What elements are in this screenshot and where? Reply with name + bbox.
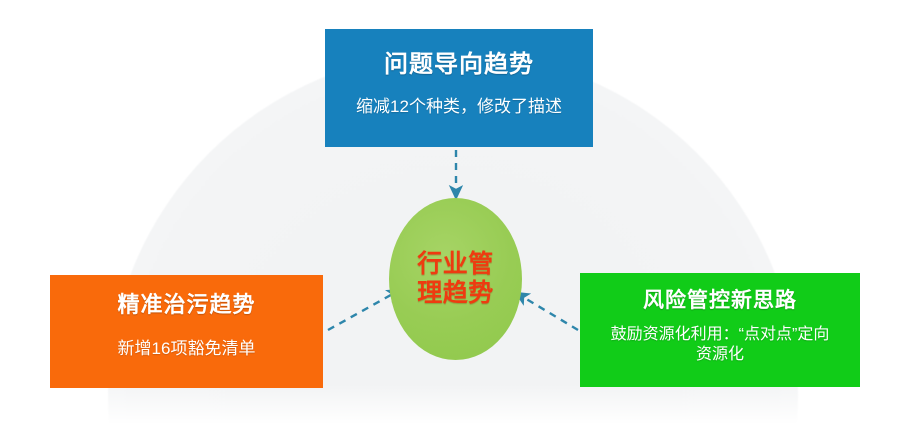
hub-ellipse[interactable]: 行业管理趋势 [389, 198, 522, 360]
node-box-right[interactable]: 风险管控新思路 鼓励资源化利用：“点对点”定向资源化 [580, 273, 860, 387]
node-box-top[interactable]: 问题导向趋势 缩减12个种类，修改了描述 [325, 29, 593, 147]
node-title-top: 问题导向趋势 [384, 44, 534, 79]
hub-label: 行业管理趋势 [414, 250, 498, 309]
node-subtitle-left: 新增16项豁免清单 [118, 338, 256, 359]
node-subtitle-right: 鼓励资源化利用：“点对点”定向资源化 [606, 325, 834, 365]
connector-left-to-hub [328, 291, 398, 330]
diagram-canvas: 问题导向趋势 缩减12个种类，修改了描述 精准治污趋势 新增16项豁免清单 风险… [0, 0, 904, 442]
node-title-left: 精准治污趋势 [117, 287, 255, 319]
node-subtitle-top: 缩减12个种类，修改了描述 [356, 96, 562, 117]
node-title-right: 风险管控新思路 [643, 284, 797, 314]
node-box-left[interactable]: 精准治污趋势 新增16项豁免清单 [50, 275, 323, 388]
connector-right-to-hub [518, 294, 578, 330]
